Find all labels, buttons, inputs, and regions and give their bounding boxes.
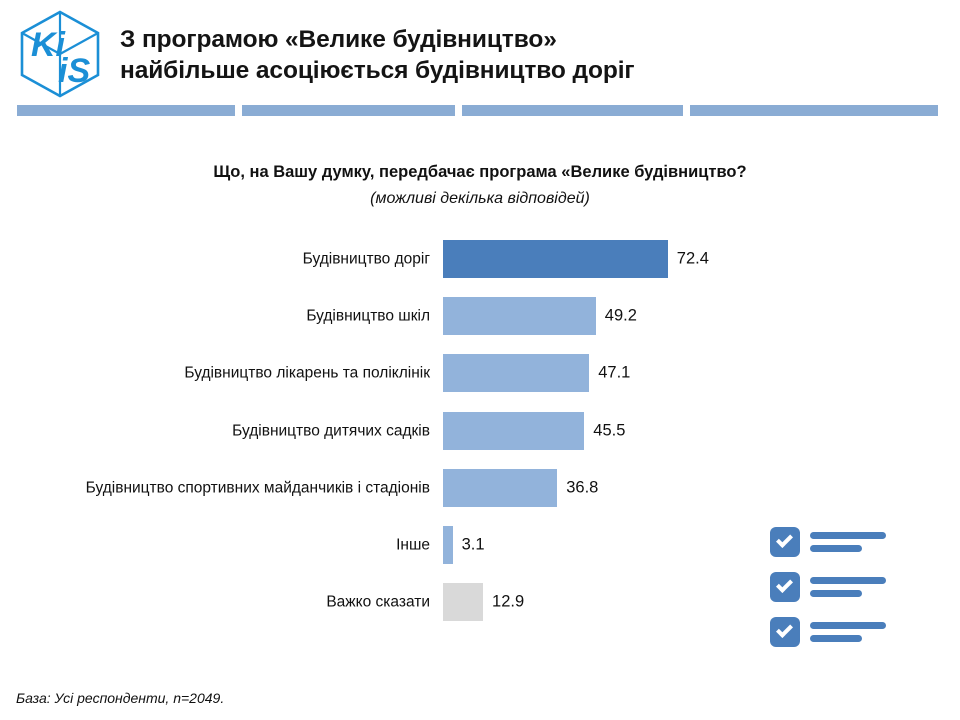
bar-rect[interactable] [443,240,668,278]
bar-rect[interactable] [443,412,584,450]
decor-segment-2 [242,105,455,116]
checkbox-icon [770,617,800,647]
bar-rect[interactable] [443,583,483,621]
base-note: База: Усі респонденти, n=2049. [16,690,224,706]
chart-bar-row: Будівництво доріг72.4 [0,240,960,278]
bar-category-label: Будівництво дитячих садків [20,421,430,440]
bar-value-label: 47.1 [598,364,630,383]
logo-text-is: iS [58,52,90,90]
checklist-text-line-2 [810,545,862,552]
bar-category-label: Інше [20,536,430,555]
bar-rect[interactable] [443,297,596,335]
check-icon [776,621,793,638]
page-title-line-2: найбільше асоціюється будівництво доріг [120,55,940,86]
kiis-logo: Ki iS [14,8,106,100]
chart-title: Що, на Вашу думку, передбачає програма «… [60,162,900,183]
check-icon [776,531,793,548]
bar-category-label: Будівництво лікарень та поліклінік [20,364,430,383]
checklist-row [770,617,900,649]
checklist-text-line-1 [810,577,886,584]
checklist-text-line-2 [810,635,862,642]
decor-segment-3 [462,105,683,116]
checklist-text-line-2 [810,590,862,597]
checklist-row [770,527,900,559]
check-icon [776,576,793,593]
bar-value-label: 12.9 [492,593,524,612]
page-title-line-1: З програмою «Велике будівництво» [120,24,940,55]
bar-category-label: Будівництво доріг [20,250,430,269]
checkbox-icon [770,527,800,557]
decorative-bar-strip [0,105,960,117]
page-title: З програмою «Велике будівництво» найбіль… [120,24,940,86]
chart-subtitle: (можливі декілька відповідей) [60,188,900,209]
checkbox-icon [770,572,800,602]
decor-segment-4 [690,105,938,116]
bar-category-label: Важко сказати [20,593,430,612]
page-header: Ki iS З програмою «Велике будівництво» н… [0,0,960,100]
kiis-logo-icon: Ki iS [14,8,106,100]
checklist-row [770,572,900,604]
bar-value-label: 36.8 [566,478,598,497]
checklist-text-line-1 [810,532,886,539]
bar-value-label: 3.1 [462,536,485,555]
decor-segment-1 [17,105,235,116]
bar-category-label: Будівництво шкіл [20,307,430,326]
bar-category-label: Будівництво спортивних майданчиків і ста… [20,478,430,497]
bar-rect[interactable] [443,354,589,392]
bar-value-label: 72.4 [677,250,709,269]
bar-value-label: 45.5 [593,421,625,440]
chart-bar-row: Будівництво спортивних майданчиків і ста… [0,469,960,507]
bar-value-label: 49.2 [605,307,637,326]
chart-bar-row: Будівництво шкіл49.2 [0,297,960,335]
chart-bar-row: Будівництво дитячих садків45.5 [0,412,960,450]
bar-rect[interactable] [443,526,453,564]
chart-bar-row: Будівництво лікарень та поліклінік47.1 [0,354,960,392]
checklist-text-line-1 [810,622,886,629]
checklist-illustration [770,527,900,647]
bar-rect[interactable] [443,469,557,507]
